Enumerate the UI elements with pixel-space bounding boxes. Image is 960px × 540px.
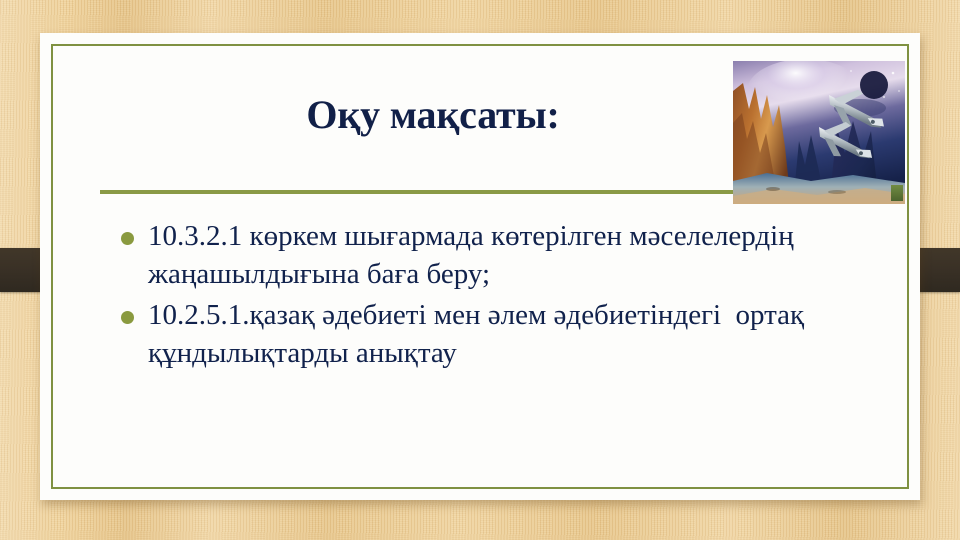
slide-content: Оқу мақсаты: bbox=[53, 46, 907, 487]
bullet-dot-icon bbox=[121, 232, 134, 245]
slide-card: Оқу мақсаты: bbox=[40, 33, 920, 500]
artwork-watermark bbox=[891, 185, 903, 201]
list-item-text: 10.2.5.1.қазақ әдебиеті мен әлем әдебиет… bbox=[148, 297, 855, 372]
sci-fi-artwork-image bbox=[733, 61, 905, 204]
list-item: 10.2.5.1.қазақ әдебиеті мен әлем әдебиет… bbox=[115, 297, 855, 372]
page-title: Оқу мақсаты: bbox=[113, 94, 753, 136]
spaceship-scene-icon bbox=[733, 61, 905, 204]
list-item-text: 10.3.2.1 көркем шығармада көтерілген мәс… bbox=[148, 218, 855, 293]
slide: Оқу мақсаты: bbox=[0, 0, 960, 540]
learning-objectives-list: 10.3.2.1 көркем шығармада көтерілген мәс… bbox=[115, 218, 855, 377]
list-item: 10.3.2.1 көркем шығармада көтерілген мәс… bbox=[115, 218, 855, 293]
bullet-dot-icon bbox=[121, 311, 134, 324]
